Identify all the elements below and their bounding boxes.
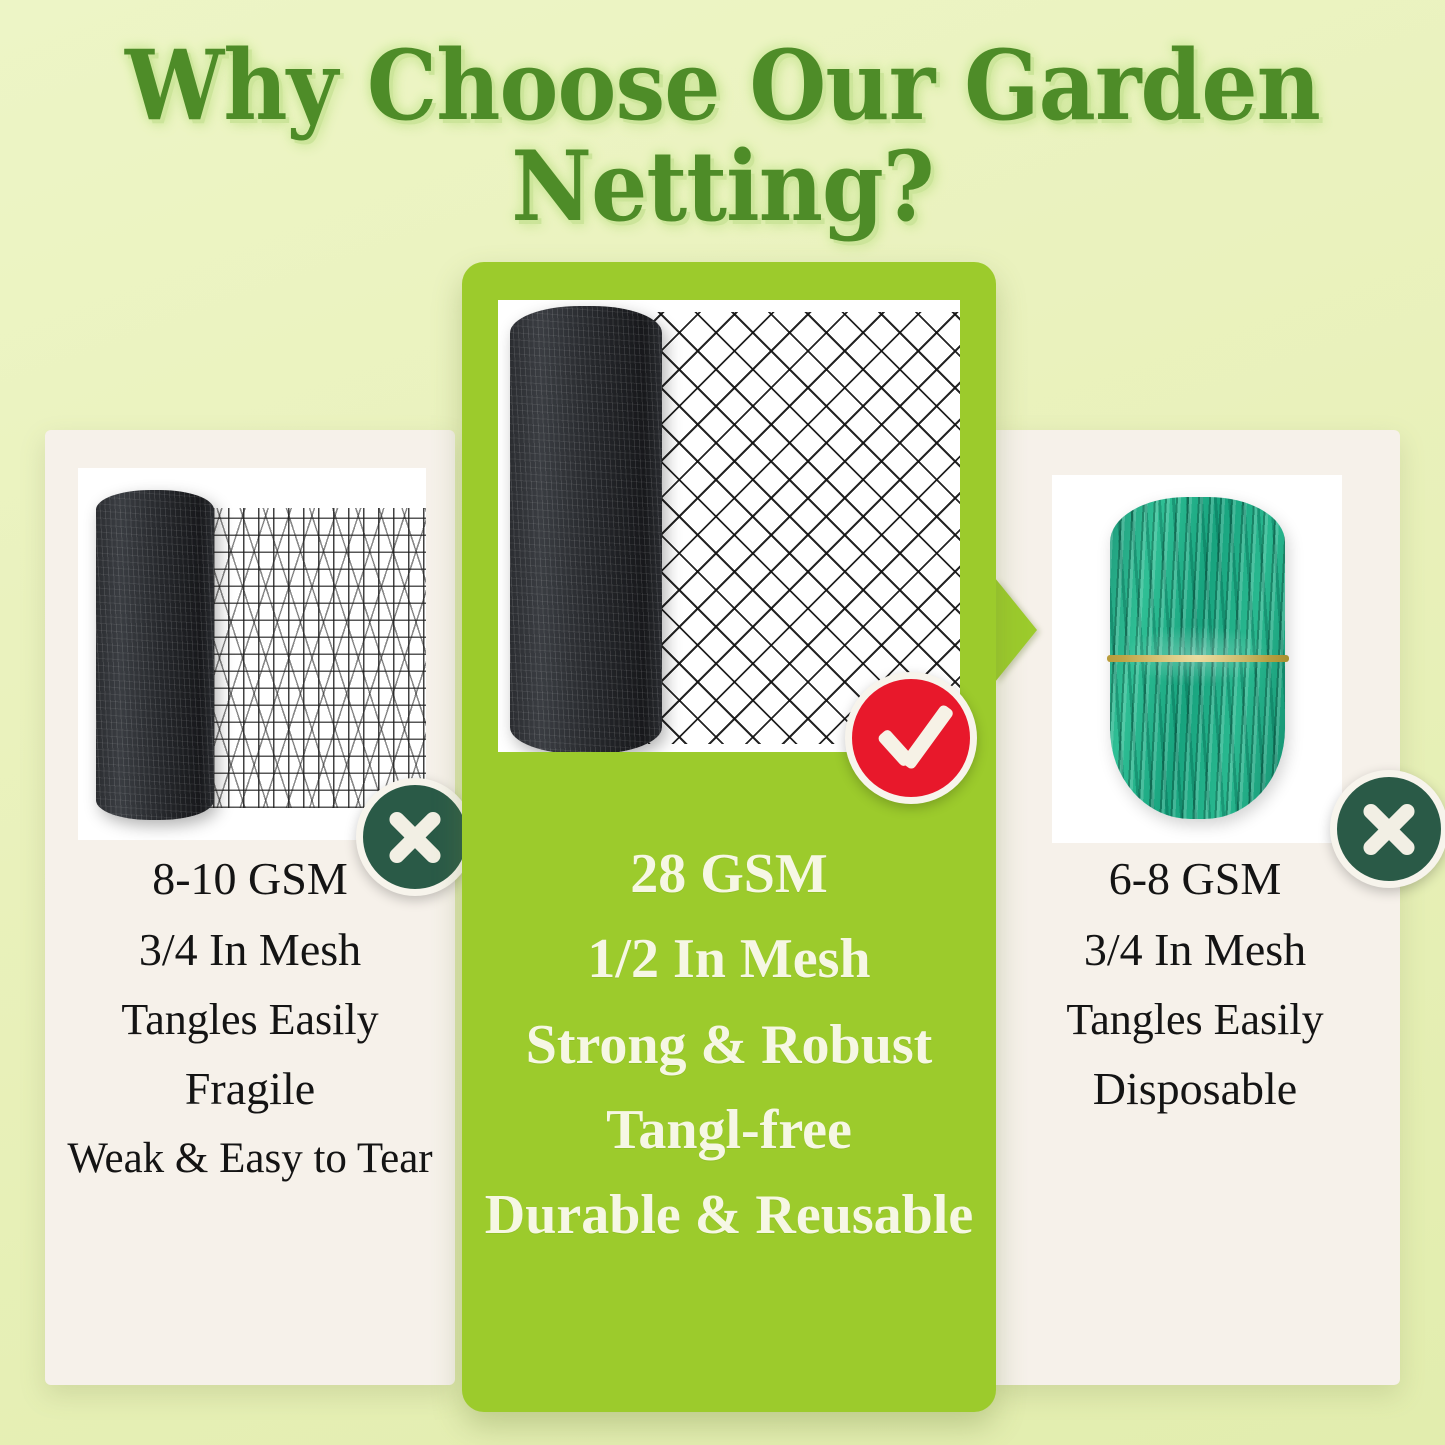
arrow-right-icon xyxy=(995,578,1037,682)
feature-item: 6-8 GSM xyxy=(990,855,1400,904)
feature-item: Tangles Easily xyxy=(45,997,455,1044)
product-image-right xyxy=(1052,475,1342,843)
x-mark-icon xyxy=(384,806,446,868)
infographic-root: Why Choose Our Garden Netting? 8-10 GSM … xyxy=(0,0,1445,1445)
loose-mesh-texture xyxy=(198,508,426,808)
feature-item: Strong & Robust xyxy=(462,1016,996,1075)
feature-item: 3/4 In Mesh xyxy=(45,926,455,975)
x-mark-icon-left xyxy=(356,778,474,896)
feature-item: Weak & Easy to Tear xyxy=(45,1136,455,1182)
x-mark-icon xyxy=(1358,798,1420,860)
page-title-text: Why Choose Our Garden Netting? xyxy=(58,36,1387,238)
feature-list-right: 6-8 GSM 3/4 In Mesh Tangles Easily Dispo… xyxy=(990,855,1400,1136)
netting-roll-black-premium xyxy=(510,306,662,752)
feature-list-left: 8-10 GSM 3/4 In Mesh Tangles Easily Frag… xyxy=(45,855,455,1203)
product-image-left xyxy=(78,468,426,840)
feature-item: 3/4 In Mesh xyxy=(990,926,1400,975)
feature-item: Disposable xyxy=(990,1065,1400,1114)
feature-item: Tangles Easily xyxy=(990,997,1400,1044)
feature-item: Fragile xyxy=(45,1065,455,1114)
check-mark-icon-center xyxy=(845,672,977,804)
page-title: Why Choose Our Garden Netting? xyxy=(0,36,1445,238)
feature-item: Tangl-free xyxy=(462,1101,996,1160)
netting-roll-black xyxy=(96,490,214,820)
bundle-highlight xyxy=(1122,625,1272,685)
feature-item: 1/2 In Mesh xyxy=(462,930,996,989)
feature-item: Durable & Reusable xyxy=(462,1186,996,1245)
check-mark-icon xyxy=(874,706,948,770)
feature-item: 28 GSM xyxy=(462,845,996,904)
feature-list-center: 28 GSM 1/2 In Mesh Strong & Robust Tangl… xyxy=(462,845,996,1272)
x-mark-icon-right xyxy=(1330,770,1445,888)
